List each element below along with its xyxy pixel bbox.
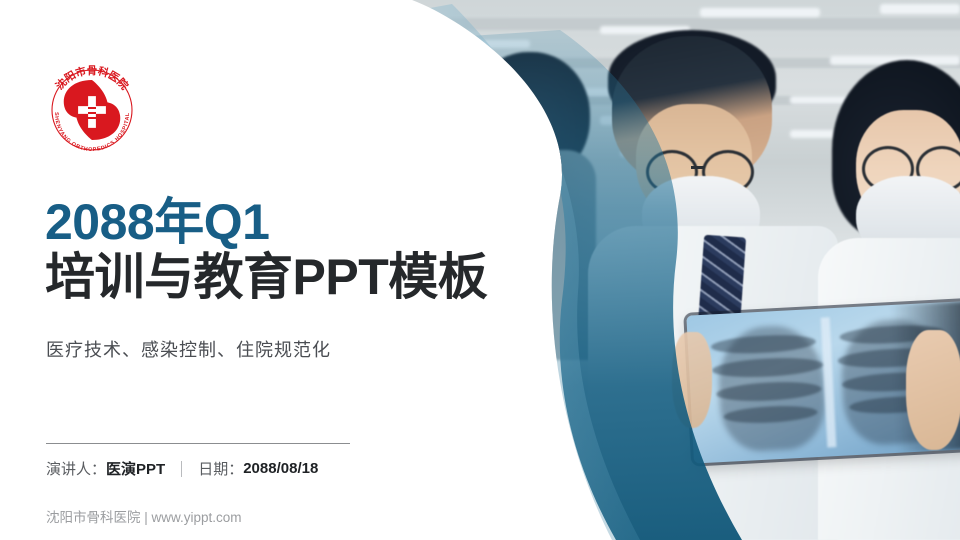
presenter-value: 医演PPT	[106, 458, 165, 479]
footer-credit: 沈阳市骨科医院 | www.yippt.com	[46, 506, 242, 526]
page-title: 2088年Q1 培训与教育PPT模板	[45, 196, 487, 305]
hospital-logo-icon: 沈阳市骨科医院 SHENYANG ORTHOPEDICS HOSPITAL	[42, 60, 142, 160]
date-value: 2088/08/18	[243, 460, 318, 477]
presenter-label: 演讲人：	[46, 458, 106, 479]
date-label: 日期：	[198, 458, 243, 479]
presenter-date-line: 演讲人：医演PPT 日期：2088/08/18	[46, 458, 318, 479]
subtitle: 医疗技术、感染控制、住院规范化	[46, 336, 331, 362]
title-content-column: 沈阳市骨科医院 SHENYANG ORTHOPEDICS HOSPITAL 20…	[0, 0, 430, 540]
presentation-title-slide: 沈阳市骨科医院 SHENYANG ORTHOPEDICS HOSPITAL 20…	[0, 0, 960, 540]
divider	[46, 443, 350, 444]
title-line-subject: 培训与教育PPT模板	[45, 249, 487, 305]
meta-separator	[181, 461, 182, 477]
title-line-year-quarter: 2088年Q1	[45, 196, 487, 249]
